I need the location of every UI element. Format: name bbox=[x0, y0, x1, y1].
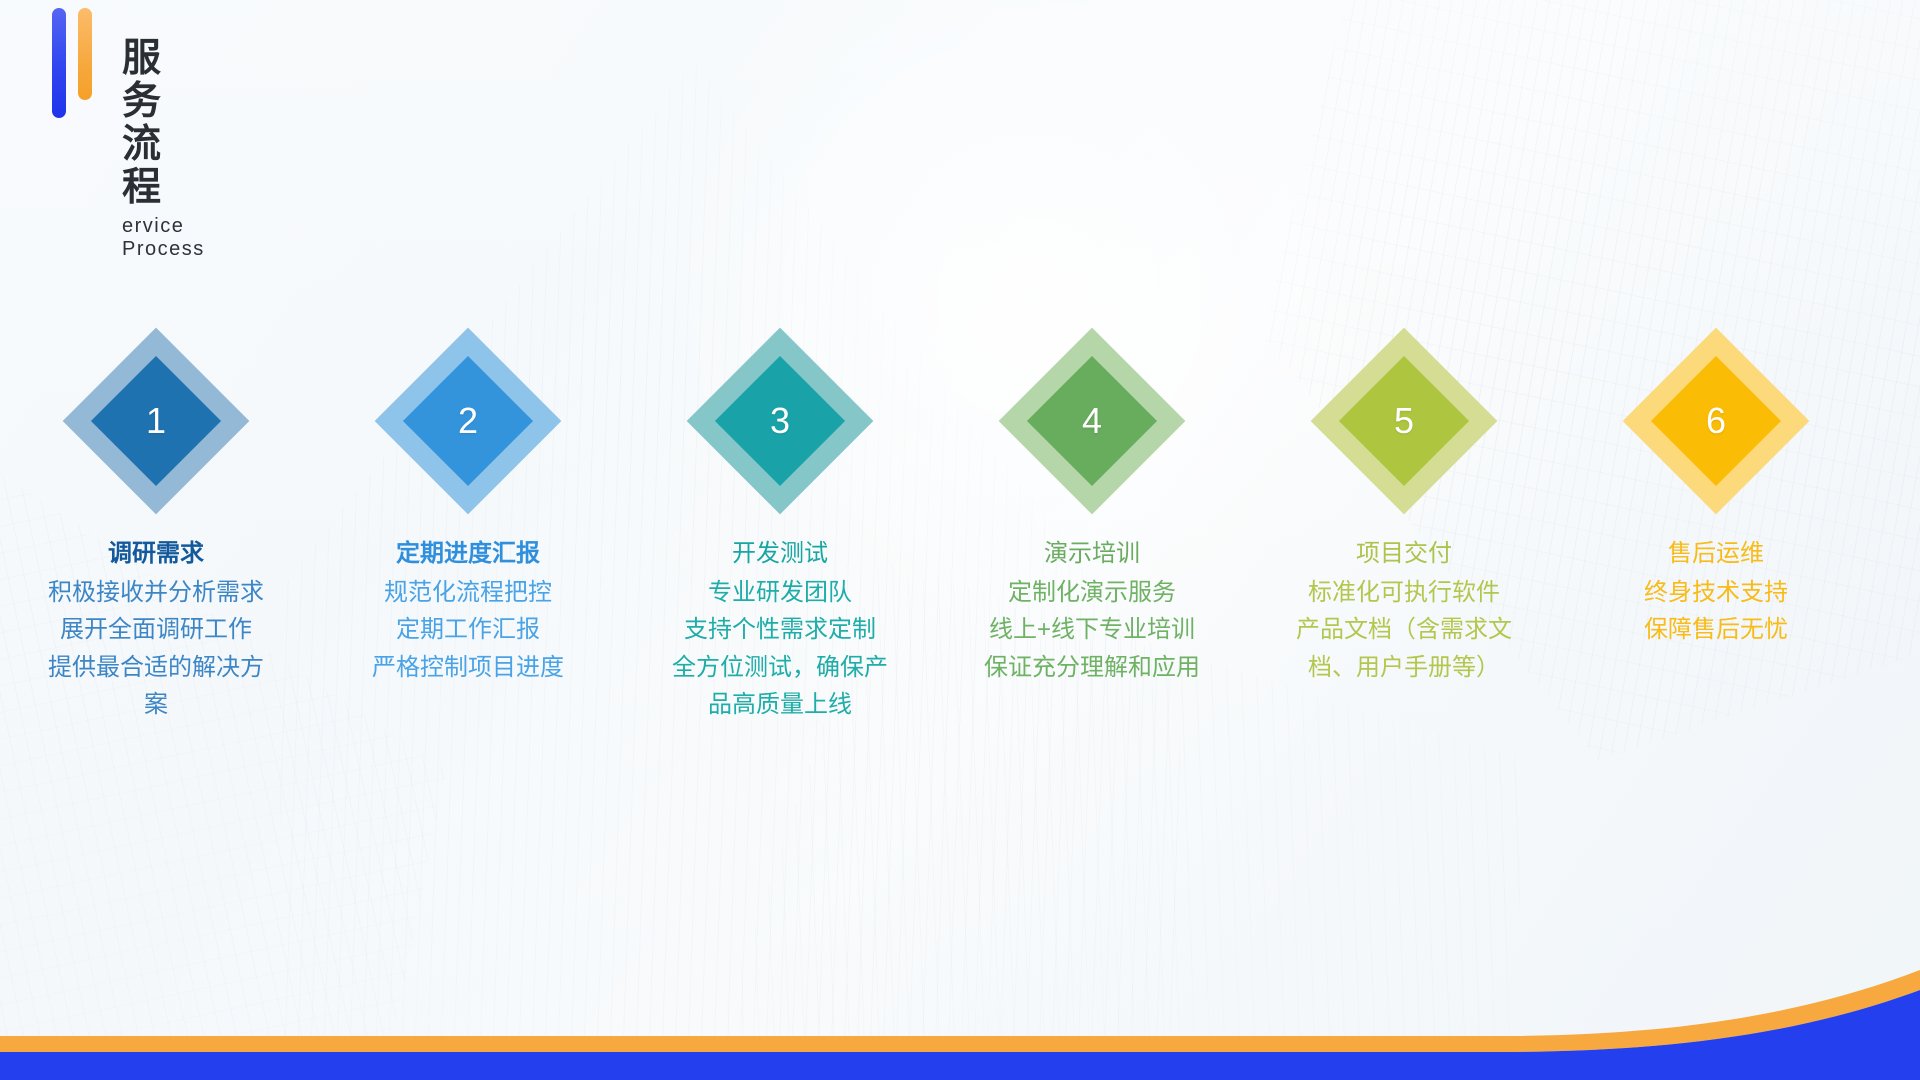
process-step-4[interactable]: 4演示培训定制化演示服务线上+线下专业培训保证充分理解和应用 bbox=[936, 330, 1248, 686]
step-diamond-5[interactable]: 5 bbox=[1313, 330, 1495, 512]
step-text-2: 定期进度汇报规范化流程把控定期工作汇报严格控制项目进度 bbox=[332, 536, 604, 686]
step-description-line: 积极接收并分析需求 bbox=[20, 574, 292, 611]
step-description-line: 案 bbox=[20, 686, 292, 723]
accent-bar-blue bbox=[52, 8, 66, 118]
ribbon-blue-curve bbox=[0, 990, 1920, 1080]
step-description-line: 品高质量上线 bbox=[644, 686, 916, 723]
step-number: 2 bbox=[377, 330, 559, 512]
step-title: 项目交付 bbox=[1268, 536, 1540, 572]
step-text-6: 售后运维终身技术支持保障售后无忧 bbox=[1580, 536, 1852, 649]
step-diamond-3[interactable]: 3 bbox=[689, 330, 871, 512]
step-text-1: 调研需求积极接收并分析需求展开全面调研工作提供最合适的解决方案 bbox=[20, 536, 292, 724]
step-description-line: 规范化流程把控 bbox=[332, 574, 604, 611]
step-diamond-2[interactable]: 2 bbox=[377, 330, 559, 512]
process-steps: 1调研需求积极接收并分析需求展开全面调研工作提供最合适的解决方案2定期进度汇报规… bbox=[0, 330, 1920, 724]
step-title: 调研需求 bbox=[20, 536, 292, 572]
step-description-line: 定制化演示服务 bbox=[956, 574, 1228, 611]
step-description-line: 档、用户手册等） bbox=[1268, 649, 1540, 686]
step-title: 开发测试 bbox=[644, 536, 916, 572]
step-description-line: 终身技术支持 bbox=[1580, 574, 1852, 611]
bottom-ribbon bbox=[0, 960, 1920, 1080]
step-description-line: 标准化可执行软件 bbox=[1268, 574, 1540, 611]
step-diamond-1[interactable]: 1 bbox=[65, 330, 247, 512]
step-diamond-6[interactable]: 6 bbox=[1625, 330, 1807, 512]
accent-bars bbox=[52, 8, 98, 120]
process-step-2[interactable]: 2定期进度汇报规范化流程把控定期工作汇报严格控制项目进度 bbox=[312, 330, 624, 686]
step-description-line: 展开全面调研工作 bbox=[20, 611, 292, 648]
process-step-1[interactable]: 1调研需求积极接收并分析需求展开全面调研工作提供最合适的解决方案 bbox=[0, 330, 312, 724]
step-text-3: 开发测试专业研发团队支持个性需求定制全方位测试，确保产品高质量上线 bbox=[644, 536, 916, 724]
slide-canvas: 服务流程 ervice Process 1调研需求积极接收并分析需求展开全面调研… bbox=[0, 0, 1920, 1080]
step-description-line: 提供最合适的解决方 bbox=[20, 649, 292, 686]
title-block: 服务流程 ervice Process bbox=[122, 38, 205, 261]
step-description-line: 全方位测试，确保产 bbox=[644, 649, 916, 686]
step-title: 售后运维 bbox=[1580, 536, 1852, 572]
step-diamond-4[interactable]: 4 bbox=[1001, 330, 1183, 512]
step-number: 4 bbox=[1001, 330, 1183, 512]
page-title: 服务流程 bbox=[122, 38, 205, 210]
process-step-6[interactable]: 6售后运维终身技术支持保障售后无忧 bbox=[1560, 330, 1872, 649]
process-step-5[interactable]: 5项目交付标准化可执行软件产品文档（含需求文档、用户手册等） bbox=[1248, 330, 1560, 686]
ribbon-orange-curve bbox=[0, 970, 1920, 1052]
process-step-3[interactable]: 3开发测试专业研发团队支持个性需求定制全方位测试，确保产品高质量上线 bbox=[624, 330, 936, 724]
step-description-line: 保证充分理解和应用 bbox=[956, 649, 1228, 686]
step-description-line: 线上+线下专业培训 bbox=[956, 611, 1228, 648]
step-text-4: 演示培训定制化演示服务线上+线下专业培训保证充分理解和应用 bbox=[956, 536, 1228, 686]
step-description-line: 专业研发团队 bbox=[644, 574, 916, 611]
ribbon-shape bbox=[0, 960, 1920, 1080]
step-number: 3 bbox=[689, 330, 871, 512]
step-text-5: 项目交付标准化可执行软件产品文档（含需求文档、用户手册等） bbox=[1268, 536, 1540, 686]
step-title: 演示培训 bbox=[956, 536, 1228, 572]
step-number: 5 bbox=[1313, 330, 1495, 512]
step-number: 6 bbox=[1625, 330, 1807, 512]
step-description-line: 支持个性需求定制 bbox=[644, 611, 916, 648]
step-description-line: 产品文档（含需求文 bbox=[1268, 611, 1540, 648]
step-description-line: 定期工作汇报 bbox=[332, 611, 604, 648]
page-subtitle: ervice Process bbox=[122, 215, 205, 261]
accent-bar-orange bbox=[78, 8, 92, 100]
step-title: 定期进度汇报 bbox=[332, 536, 604, 572]
step-description-line: 严格控制项目进度 bbox=[332, 649, 604, 686]
step-description-line: 保障售后无忧 bbox=[1580, 611, 1852, 648]
step-number: 1 bbox=[65, 330, 247, 512]
